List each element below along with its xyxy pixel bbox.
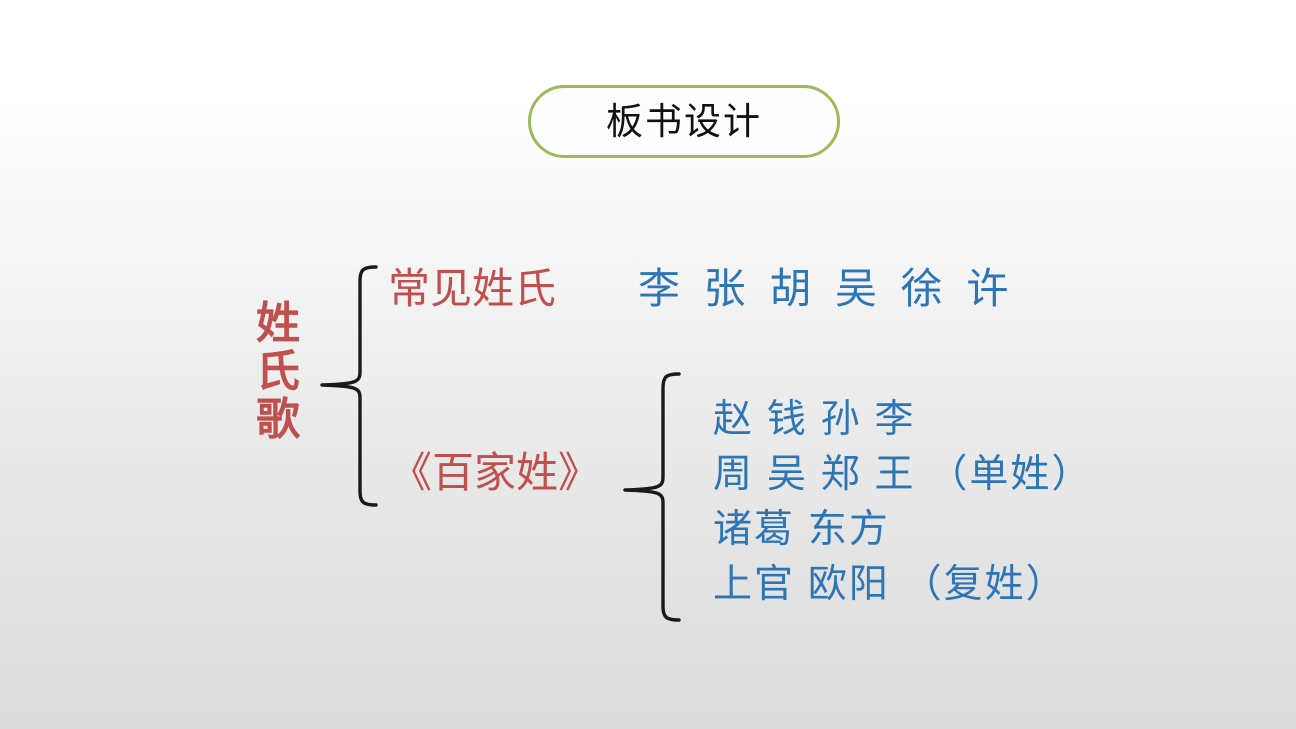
baijiaxing-line-1: 赵 钱 孙 李: [713, 392, 1092, 447]
baijiaxing-line-4: 上官 欧阳 （复姓）: [713, 557, 1092, 612]
baijiaxing-line-3: 诸葛 东方: [713, 502, 1092, 557]
page-title-capsule: 板书设计: [528, 85, 840, 158]
root-label-char-1: 姓: [248, 300, 308, 348]
baijiaxing-line-2: 周 吴 郑 王 （单姓）: [713, 447, 1092, 502]
common-surnames-list: 李 张 胡 吴 徐 许: [638, 268, 1014, 310]
root-label-char-2: 氏: [248, 348, 308, 396]
baijiaxing-lines: 赵 钱 孙 李 周 吴 郑 王 （单姓） 诸葛 东方 上官 欧阳 （复姓）: [713, 392, 1092, 612]
brace-root: [318, 264, 378, 508]
branch-label-common-surnames: 常见姓氏: [388, 268, 556, 310]
diagram-root-label: 姓 氏 歌: [248, 300, 308, 444]
branch-label-baijiaxing: 《百家姓》: [390, 452, 600, 494]
page-title: 板书设计: [606, 103, 762, 140]
slide-canvas: 板书设计 姓 氏 歌 常见姓氏 李 张 胡 吴 徐 许 《百家姓》 赵 钱 孙 …: [0, 0, 1296, 729]
brace-baijia: [621, 371, 681, 623]
root-label-char-3: 歌: [248, 396, 308, 444]
